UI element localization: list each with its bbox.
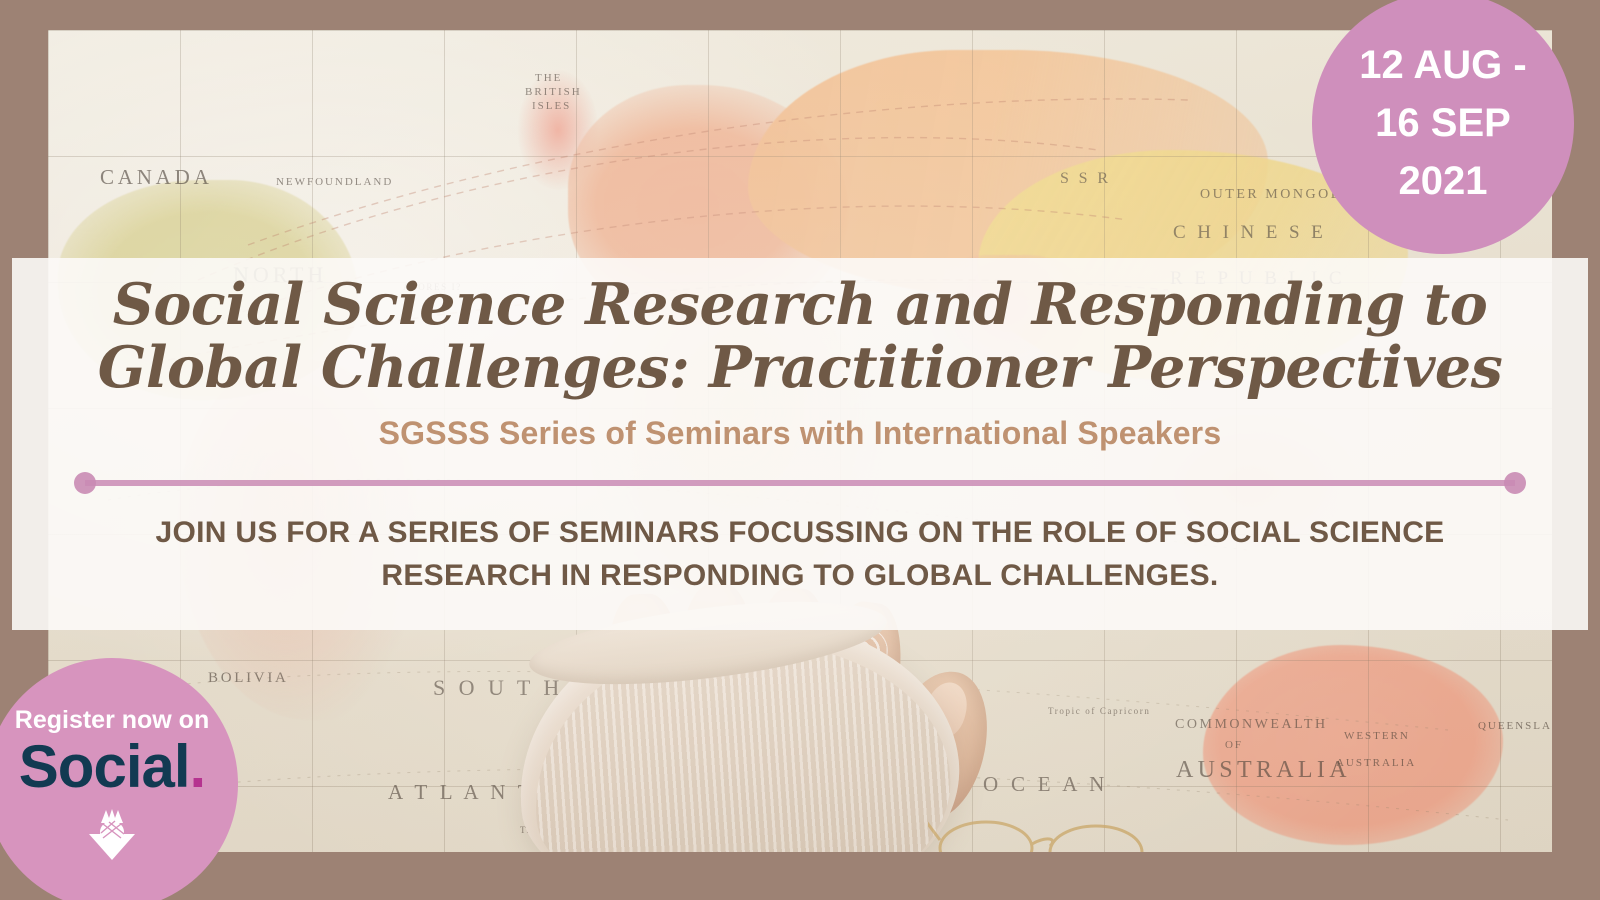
map-label: OF xyxy=(1225,739,1243,751)
date-badge-line-3: 2021 xyxy=(1399,152,1488,210)
map-label: QUEENSLAND xyxy=(1478,720,1552,732)
content-banner: Social Science Research and Responding t… xyxy=(12,258,1588,630)
map-label: O C E A N xyxy=(983,772,1108,797)
eyeglasses xyxy=(928,800,1158,852)
body-text: JOIN US FOR A SERIES OF SEMINARS FOCUSSI… xyxy=(85,512,1515,597)
brand-name: Social xyxy=(19,735,190,798)
map-label: ISLES xyxy=(532,100,571,112)
social-logo: Social. xyxy=(19,735,205,798)
map-label: CANADA xyxy=(100,165,213,190)
date-badge: 12 AUG - 16 SEP 2021 xyxy=(1312,0,1574,254)
title-line-1: Social Science Research and Responding t… xyxy=(113,271,1488,338)
map-label: BRITISH xyxy=(525,86,582,98)
register-call-to-action: Register now on xyxy=(15,708,209,733)
divider-dot-right xyxy=(1504,472,1526,494)
divider xyxy=(74,472,1526,494)
page-title: Social Science Research and Responding t… xyxy=(84,274,1517,399)
map-label: Tropic of Capricorn xyxy=(1048,706,1150,716)
map-label: THE xyxy=(535,72,562,84)
map-label: COMMONWEALTH xyxy=(1175,717,1328,733)
map-label: AUSTRALIA xyxy=(1336,757,1416,769)
map-label: WESTERN xyxy=(1344,730,1410,742)
date-badge-line-2: 16 SEP xyxy=(1375,94,1511,152)
map-label: S O U T H xyxy=(433,675,563,701)
map-label: NEWFOUNDLAND xyxy=(276,176,393,188)
map-label: S S R xyxy=(1060,170,1111,188)
title-line-2: Global Challenges: Practitioner Perspect… xyxy=(98,334,1503,401)
divider-line xyxy=(85,480,1515,486)
date-badge-line-1: 12 AUG - xyxy=(1359,36,1526,94)
map-label: BOLIVIA xyxy=(208,670,289,687)
thistle-icon xyxy=(81,804,143,866)
subtitle: SGSSS Series of Seminars with Internatio… xyxy=(379,415,1222,452)
promotional-poster: CANADANEWFOUNDLANDTHEBRITISHISLESNORTHAZ… xyxy=(0,0,1600,900)
map-label: AUSTRALIA xyxy=(1176,757,1351,784)
brand-dot: . xyxy=(190,735,206,798)
map-label: C H I N E S E xyxy=(1173,222,1326,244)
